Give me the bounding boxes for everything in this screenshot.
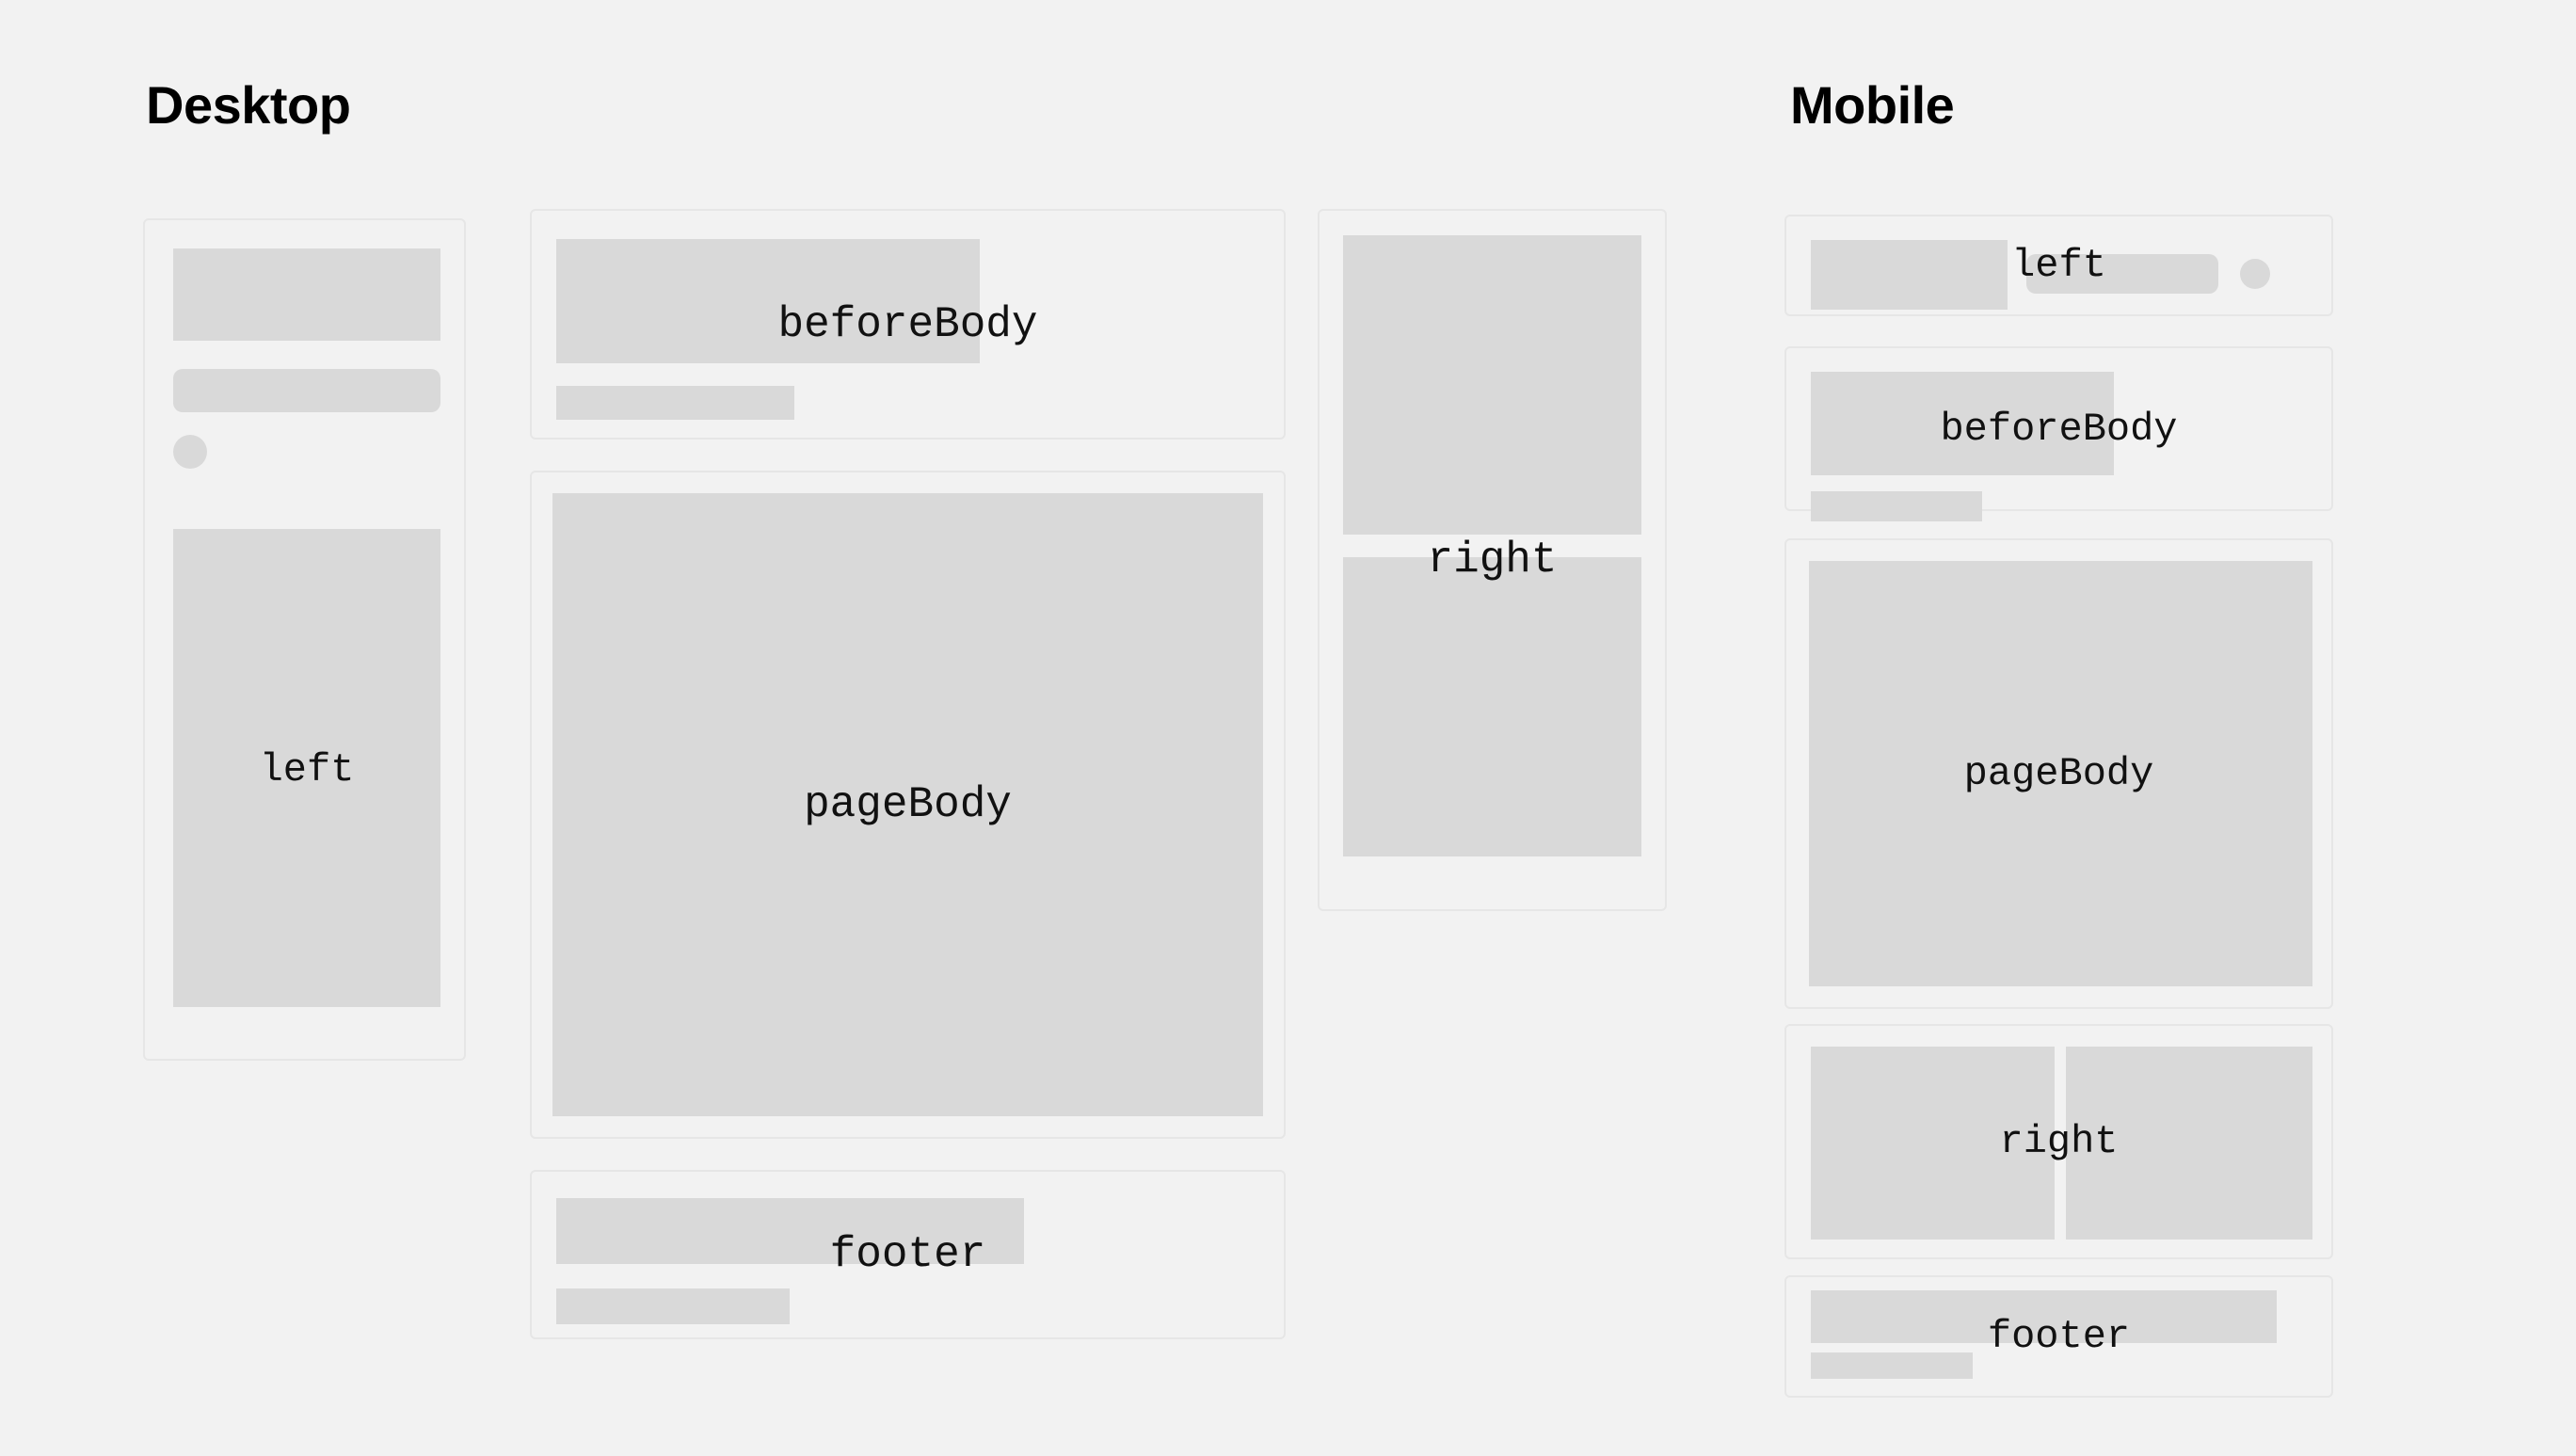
mobile-right-slot-panel[interactable]: right — [1784, 1024, 2333, 1259]
skeleton-block-avatar-dot — [173, 435, 207, 469]
skeleton-block-primary — [1811, 1290, 2277, 1343]
desktop-before-body-slot-panel[interactable]: beforeBody — [530, 209, 1286, 440]
mobile-page-body-slot-panel[interactable]: pageBody — [1784, 538, 2333, 1009]
skeleton-block-primary — [552, 493, 1263, 1116]
skeleton-block-primary — [556, 1198, 1024, 1264]
skeleton-block-primary — [1809, 561, 2312, 986]
skeleton-block-pill — [173, 369, 440, 412]
skeleton-block-right-column — [2066, 1047, 2312, 1240]
skeleton-block-secondary — [556, 386, 794, 420]
skeleton-block-secondary — [1811, 491, 1982, 521]
desktop-footer-slot-panel[interactable]: footer — [530, 1170, 1286, 1339]
skeleton-block-body — [173, 529, 440, 1007]
skeleton-block-pill — [2026, 254, 2218, 294]
mobile-footer-slot-panel[interactable]: footer — [1784, 1275, 2333, 1398]
skeleton-block-hero — [173, 248, 440, 341]
desktop-right-slot-panel[interactable]: right — [1318, 209, 1667, 911]
wireframe-canvas: Desktop left beforeBody pageBody right f… — [0, 0, 2576, 1456]
skeleton-block-left-column — [1811, 1047, 2055, 1240]
desktop-section-heading: Desktop — [146, 79, 350, 132]
desktop-left-slot-panel[interactable]: left — [143, 218, 466, 1061]
skeleton-block-primary — [1811, 372, 2114, 475]
skeleton-block-secondary — [556, 1288, 790, 1324]
mobile-section-heading: Mobile — [1790, 79, 1954, 132]
skeleton-block-secondary — [1811, 1352, 1973, 1379]
mobile-left-slot-panel[interactable]: left — [1784, 215, 2333, 316]
skeleton-block-bottom — [1343, 557, 1641, 856]
skeleton-block-hero — [1811, 240, 2008, 310]
mobile-before-body-slot-panel[interactable]: beforeBody — [1784, 346, 2333, 511]
skeleton-block-avatar-dot — [2240, 259, 2270, 289]
desktop-page-body-slot-panel[interactable]: pageBody — [530, 471, 1286, 1139]
skeleton-block-top — [1343, 235, 1641, 535]
skeleton-block-primary — [556, 239, 980, 363]
